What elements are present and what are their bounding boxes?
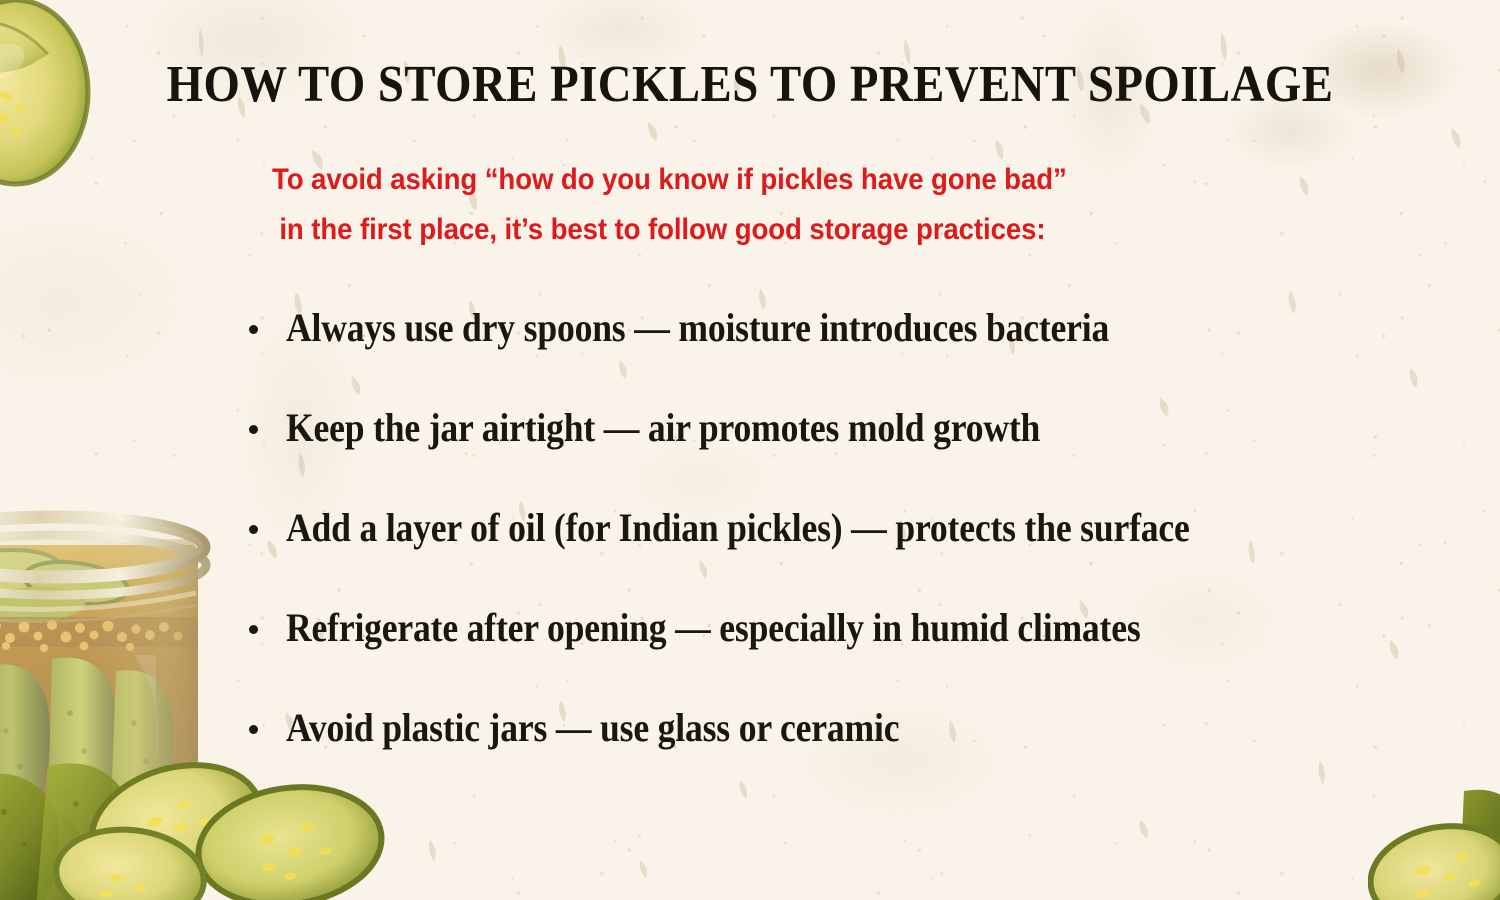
pickle-slices-photo-bottom-left [0,760,400,900]
pickle-slice-photo-top-left [0,0,102,197]
subheading-line-1: To avoid asking “how do you know if pick… [272,155,1192,205]
pickle-storage-infographic: HOW TO STORE PICKLES TO PREVENT SPOILAGE… [0,0,1500,900]
storage-tips-list: Always use dry spoons — moisture introdu… [246,300,1446,800]
list-item: Avoid plastic jars — use glass or cerami… [246,700,1446,800]
page-title: HOW TO STORE PICKLES TO PREVENT SPOILAGE [75,56,1425,114]
list-item: Always use dry spoons — moisture introdu… [246,300,1446,400]
list-item: Keep the jar airtight — air promotes mol… [246,400,1446,500]
list-item-label: Add a layer of oil (for Indian pickles) … [286,500,1190,556]
subheading: To avoid asking “how do you know if pick… [272,155,1192,255]
list-item-label: Keep the jar airtight — air promotes mol… [286,400,1040,456]
list-item-label: Always use dry spoons — moisture introdu… [286,300,1109,356]
list-item-label: Refrigerate after opening — especially i… [286,600,1141,656]
bullet-dot-icon [249,625,258,634]
list-item-label: Avoid plastic jars — use glass or cerami… [286,700,899,756]
list-item: Add a layer of oil (for Indian pickles) … [246,500,1446,600]
pickle-slices-photo-bottom-right [1368,789,1500,900]
bullet-dot-icon [249,525,258,534]
bullet-dot-icon [249,425,258,434]
bullet-dot-icon [249,325,258,334]
list-item: Refrigerate after opening — especially i… [246,600,1446,700]
subheading-line-2: in the first place, it’s best to follow … [272,205,1192,255]
bullet-dot-icon [249,725,258,734]
